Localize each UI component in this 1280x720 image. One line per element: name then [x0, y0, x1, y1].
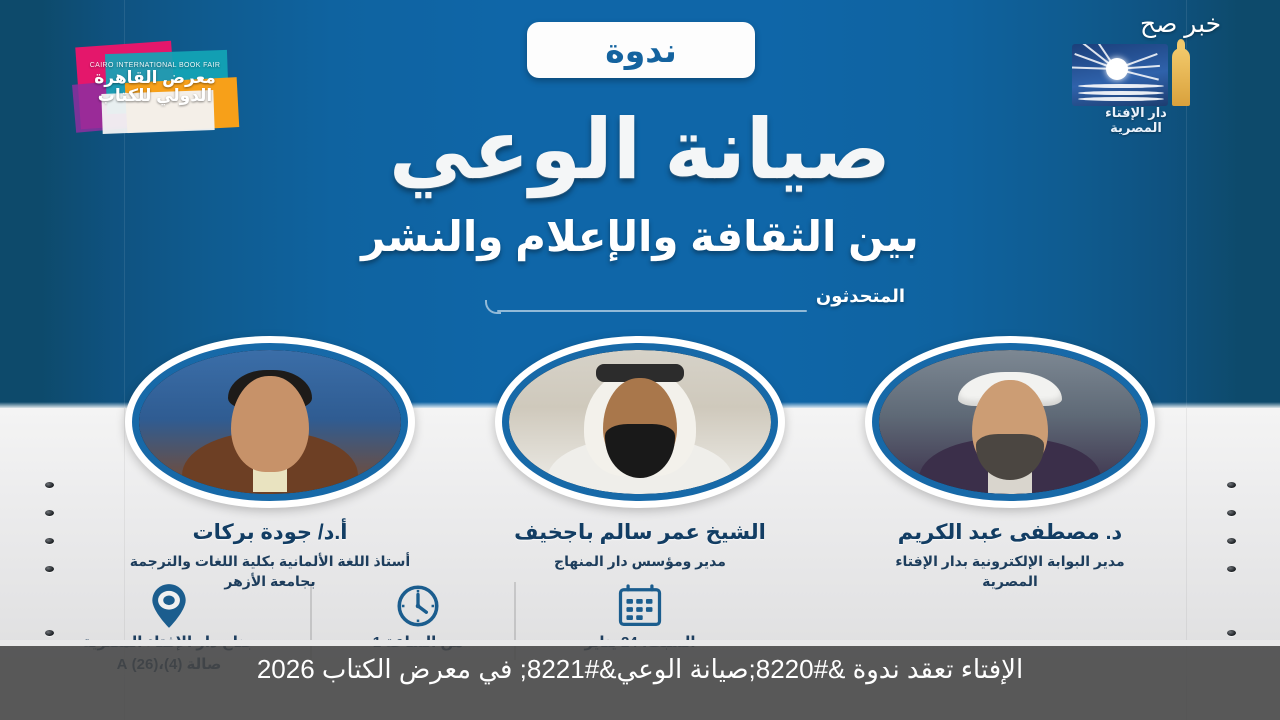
- speaker-name: أ.د/ جودة بركات: [100, 521, 440, 545]
- logo-sun-book-emblem: [1072, 44, 1168, 106]
- dot: [1227, 538, 1236, 544]
- speaker-avatar: [879, 350, 1141, 494]
- speaker-card-3: د. مصطفى عبد الكريم مدير البوابة الإلكتر…: [840, 336, 1180, 592]
- watermark: خبر صح: [1140, 12, 1221, 37]
- page-title: صيانة الوعي: [0, 108, 1280, 191]
- speakers-heading-label: المتحدثون: [816, 286, 905, 307]
- speaker-photo-frame: [865, 336, 1155, 508]
- poster-stage: CAIRO INTERNATIONAL BOOK FAIR معرض القاه…: [0, 0, 1280, 720]
- location-pin-icon: [28, 580, 310, 632]
- speakers-heading-rule: [497, 310, 807, 312]
- dot: [45, 510, 54, 516]
- page-subtitle: بين الثقافة والإعلام والنشر: [0, 214, 1280, 260]
- speakers-heading: المتحدثون: [485, 286, 905, 320]
- dot: [45, 482, 54, 488]
- book-fair-logo-text: CAIRO INTERNATIONAL BOOK FAIR معرض القاه…: [72, 62, 238, 105]
- caption-text: الإفتاء تعقد ندوة &#8220;صيانة الوعي&#82…: [257, 652, 1023, 687]
- minaret-icon: [1172, 48, 1190, 106]
- dot: [1227, 482, 1236, 488]
- book-fair-latin-text: CAIRO INTERNATIONAL BOOK FAIR: [72, 62, 238, 69]
- dot: [45, 566, 54, 572]
- speaker-photo-frame: [125, 336, 415, 508]
- speaker-photo-frame: [495, 336, 785, 508]
- book-fair-line1: معرض القاهرة: [94, 68, 216, 87]
- dot: [1227, 566, 1236, 572]
- book-wave: [1078, 91, 1164, 95]
- speaker-name: د. مصطفى عبد الكريم: [840, 521, 1180, 545]
- book-fair-line2: الدولي للكتاب: [72, 87, 238, 105]
- speaker-name: الشيخ عمر سالم باجخيف: [470, 521, 810, 545]
- speaker-photo-ring: [132, 343, 408, 501]
- caption-overlay: الإفتاء تعقد ندوة &#8220;صيانة الوعي&#82…: [0, 640, 1280, 720]
- speaker-role: مدير ومؤسس دار المنهاج: [470, 551, 810, 571]
- speaker-photo-ring: [502, 343, 778, 501]
- dot: [1227, 510, 1236, 516]
- clock-icon: [318, 580, 518, 632]
- seminar-badge: ندوة: [527, 22, 755, 78]
- speaker-photo-ring: [872, 343, 1148, 501]
- speaker-card-1: أ.د/ جودة بركات أستاذ اللغة الألمانية بك…: [100, 336, 440, 592]
- calendar-icon: [522, 580, 758, 632]
- caption-top-edge: [0, 640, 1280, 646]
- book-wave: [1078, 84, 1164, 88]
- speaker-card-2: الشيخ عمر سالم باجخيف مدير ومؤسس دار الم…: [470, 336, 810, 571]
- dot: [45, 538, 54, 544]
- book-wave: [1078, 97, 1164, 101]
- speaker-avatar: [509, 350, 771, 494]
- seminar-badge-label: ندوة: [605, 34, 676, 67]
- speaker-avatar: [139, 350, 401, 494]
